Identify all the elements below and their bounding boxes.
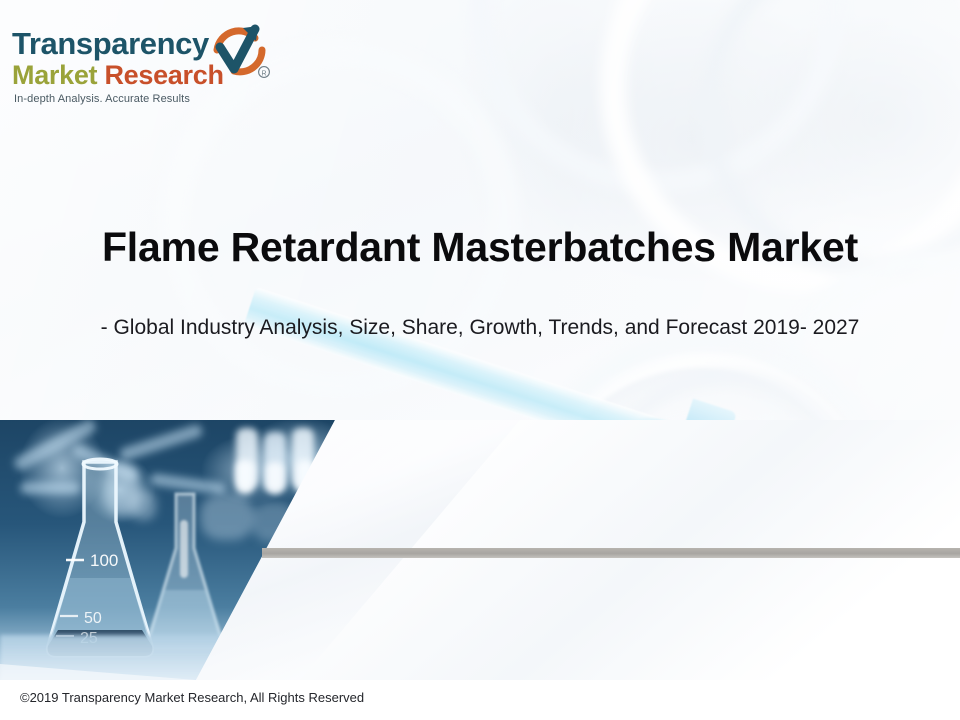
logo-tagline: In-depth Analysis. Accurate Results — [14, 93, 272, 105]
page-subtitle: - Global Industry Analysis, Size, Share,… — [0, 316, 960, 340]
checkmark-arrow-swoosh-logo-icon: R — [208, 20, 274, 86]
logo-research-text: Research — [97, 60, 223, 90]
page-title: Flame Retardant Masterbatches Market — [0, 224, 960, 271]
svg-text:R: R — [261, 70, 266, 77]
presentation-slide: Transparency Market Research In-depth An… — [0, 0, 960, 720]
company-logo[interactable]: Transparency Market Research In-depth An… — [12, 28, 272, 128]
logo-market-text: Market — [12, 60, 97, 90]
copyright-text: ©2019 Transparency Market Research, All … — [20, 690, 364, 705]
horizontal-divider — [262, 548, 960, 558]
